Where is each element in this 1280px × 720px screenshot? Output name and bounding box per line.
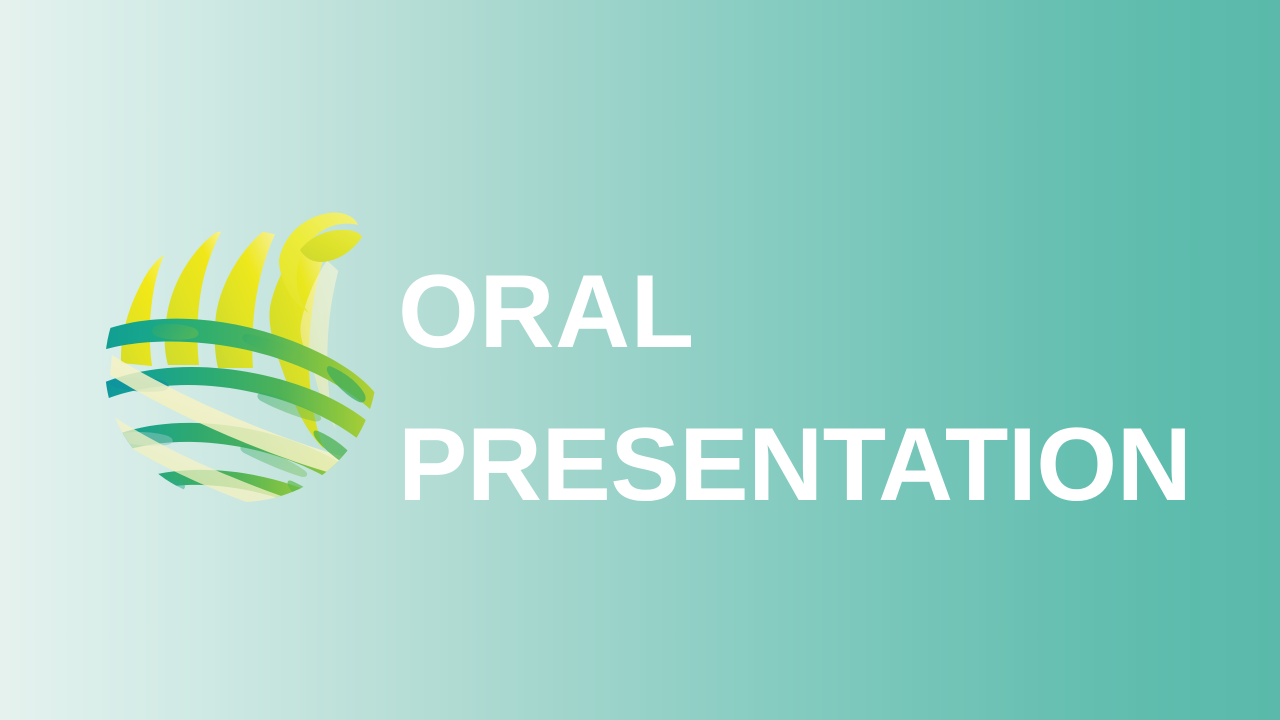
slide-canvas: ORAL PRESENTATION xyxy=(0,0,1280,720)
title-line-one: ORAL xyxy=(398,236,1228,389)
globe-ribbon-logo xyxy=(96,203,386,523)
title-line-two: PRESENTATION xyxy=(398,389,1228,542)
title-block: ORAL PRESENTATION xyxy=(398,236,1228,542)
globe-ribbons xyxy=(96,205,386,523)
